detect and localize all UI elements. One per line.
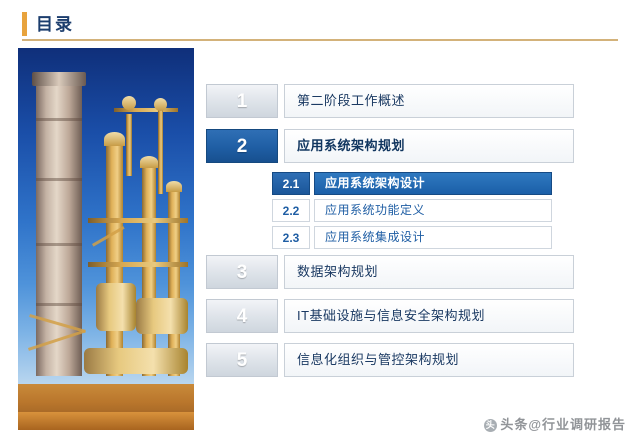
toc-subitem-2-1[interactable]: 2.1 应用系统架构设计 [272,172,554,195]
toc-item-5-number: 5 [206,343,278,377]
storage-vessel [96,283,136,331]
watermark-text: 头条@行业调研报告 [500,417,626,432]
toc-subitem-2-1-label: 应用系统架构设计 [314,172,552,195]
toc-subitem-2-2-label: 应用系统功能定义 [314,199,552,222]
chimney-band [36,243,82,246]
toc-item-3[interactable]: 3 数据架构规划 [206,255,574,289]
toc-subitem-2-3-label: 应用系统集成设计 [314,226,552,249]
chimney-cap [32,72,86,86]
toc-item-3-number: 3 [206,255,278,289]
toc-item-1[interactable]: 1 第二阶段工作概述 [206,84,574,118]
pipe-valve [122,96,136,110]
toc-item-4[interactable]: 4 IT基础设施与信息安全架构规划 [206,299,574,333]
toc-item-4-number: 4 [206,299,278,333]
toc-item-2-label: 应用系统架构规划 [284,129,574,163]
toc-item-4-label: IT基础设施与信息安全架构规划 [284,299,574,333]
slide-title-bar: 目录 [22,10,618,42]
toc-item-3-label: 数据架构规划 [284,255,574,289]
circle-badge-icon: 头 [484,419,497,432]
pipe-riser [158,110,163,194]
tower-dome [140,156,158,168]
toc-item-5-label: 信息化组织与管控架构规划 [284,343,574,377]
toc-item-2[interactable]: 2 应用系统架构规划 [206,129,574,163]
industrial-plant-photo [18,48,194,430]
chimney-band [36,303,82,306]
storage-vessel [136,298,188,334]
chimney-band [36,118,82,121]
toc-subitem-2-3-number: 2.3 [272,226,310,249]
foreground-pipes [18,412,194,430]
watermark: 头头条@行业调研报告 [484,414,626,433]
distillation-tower [142,166,156,376]
horizontal-tank [84,348,188,374]
pipe-valve [154,98,167,111]
toc-item-1-number: 1 [206,84,278,118]
pipe-run [88,218,188,223]
toc-subitem-2-1-number: 2.1 [272,172,310,195]
toc-subitem-2-2-number: 2.2 [272,199,310,222]
title-divider [22,39,618,41]
chimney-band [36,178,82,181]
pipe-run [88,262,188,267]
toc-item-2-number: 2 [206,129,278,163]
chimney-stack [36,76,82,376]
distillation-tower [106,144,123,376]
pipe-riser [126,114,132,176]
toc-subitem-2-2[interactable]: 2.2 应用系统功能定义 [272,199,554,222]
page-title: 目录 [36,10,74,35]
toc-item-1-label: 第二阶段工作概述 [284,84,574,118]
tower-dome [166,181,182,192]
tower-dome [104,132,125,146]
pipe-run [114,108,178,112]
toc-subitem-2-3[interactable]: 2.3 应用系统集成设计 [272,226,554,249]
title-accent-bar [22,12,27,36]
slide-canvas: 目录 1 第 [0,0,640,443]
toc-item-5[interactable]: 5 信息化组织与管控架构规划 [206,343,574,377]
